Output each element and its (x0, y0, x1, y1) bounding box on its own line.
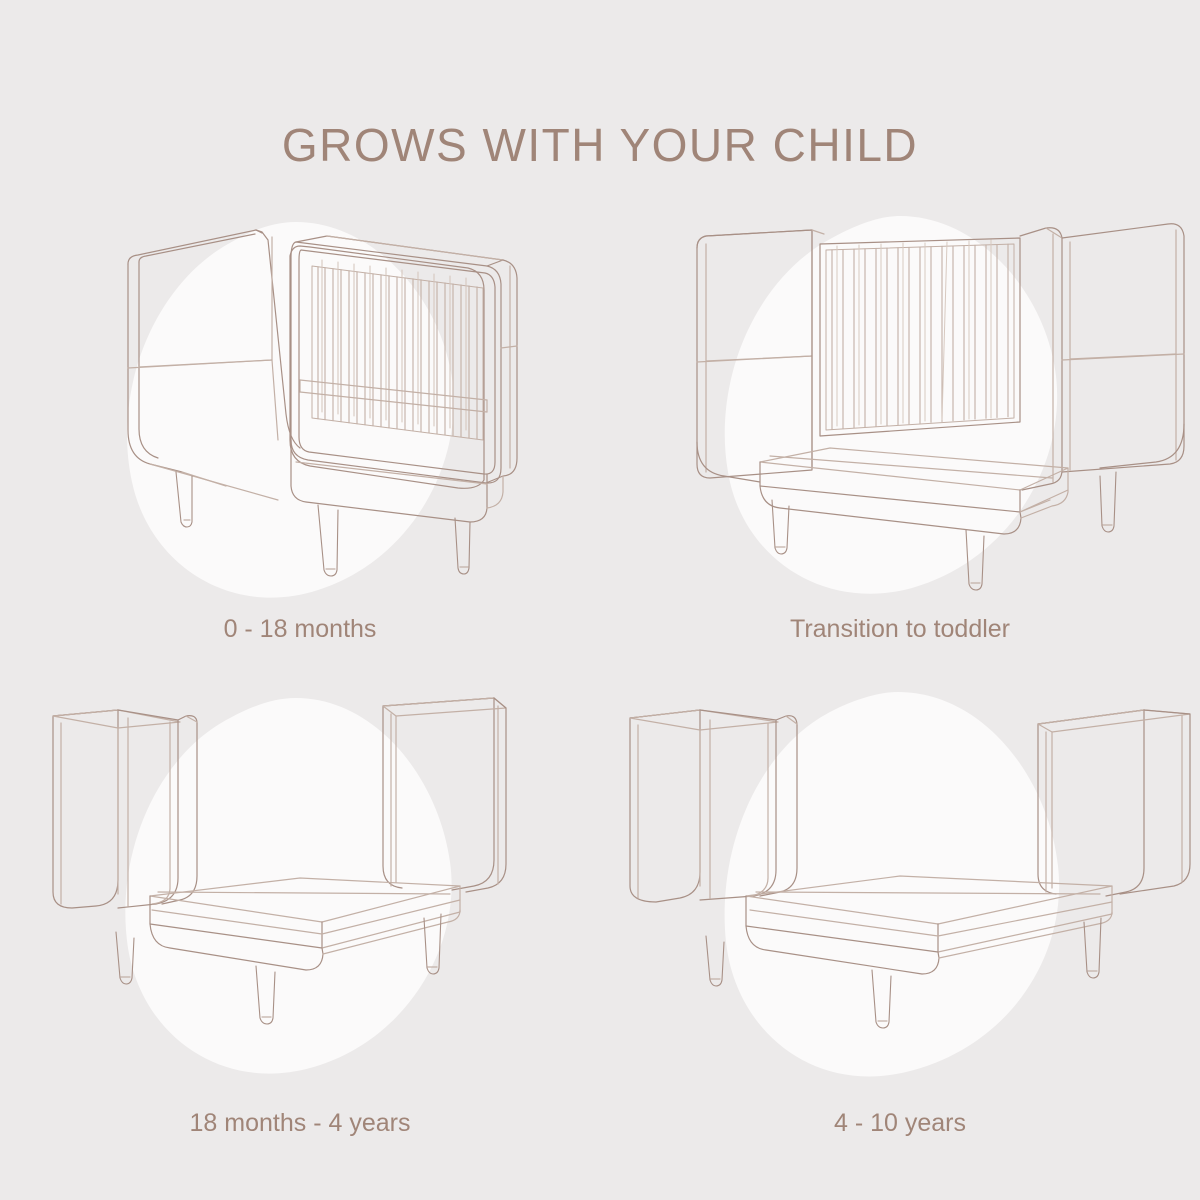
blob-backdrop (125, 698, 451, 1074)
stage-label: 4 - 10 years (600, 1109, 1200, 1138)
growth-stages-infographic: GROWS WITH YOUR CHILD (0, 0, 1200, 1200)
stage-card-transition: Transition to toddler (600, 200, 1200, 680)
toddler-bed-line-drawing (0, 680, 600, 1100)
stages-grid: 0 - 18 months (0, 200, 1200, 1160)
transition-crib-line-drawing (600, 200, 1200, 620)
page-title: GROWS WITH YOUR CHILD (0, 118, 1200, 172)
stage-card-toddler-bed: 18 months - 4 years (0, 680, 600, 1160)
crib-line-drawing (0, 200, 600, 620)
stage-card-full-bed: 4 - 10 years (600, 680, 1200, 1160)
stage-label: Transition to toddler (600, 615, 1200, 644)
stage-label: 18 months - 4 years (0, 1109, 600, 1138)
blob-backdrop (725, 692, 1059, 1076)
stage-card-crib: 0 - 18 months (0, 200, 600, 680)
stage-label: 0 - 18 months (0, 615, 600, 644)
full-bed-line-drawing (600, 680, 1200, 1100)
